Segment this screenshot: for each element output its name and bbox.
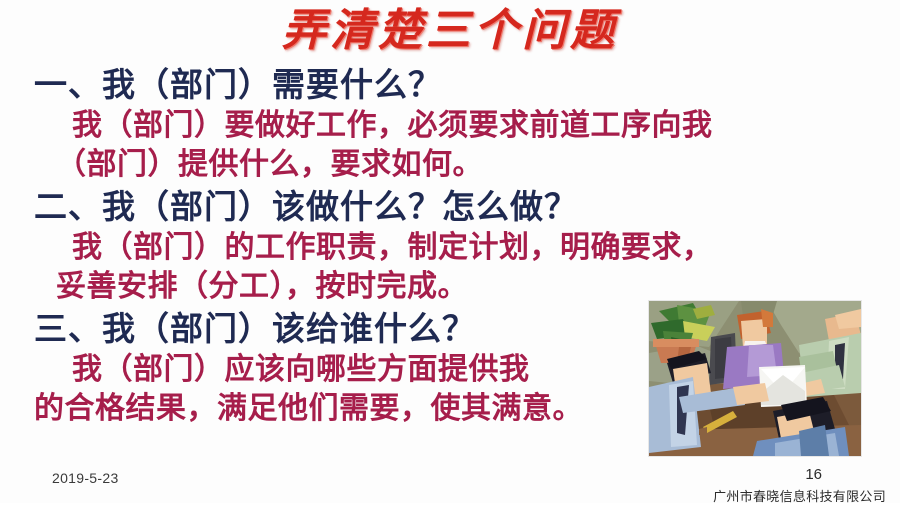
section-two: 二、我（部门）该做什么？怎么做？ 我（部门）的工作职责，制定计划，明确要求， 妥… [34, 188, 874, 306]
section-one-paragraph: 我（部门）要做好工作，必须要求前道工序向我 （部门）提供什么，要求如何。 [34, 107, 874, 184]
bottom-strip [0, 503, 900, 509]
page-title: 弄清楚三个问题 [0, 6, 900, 57]
section-two-heading: 二、我（部门）该做什么？怎么做？ [34, 188, 874, 228]
section-two-line-1: 我（部门）的工作职责，制定计划，明确要求， [34, 229, 874, 267]
section-one-line-1: 我（部门）要做好工作，必须要求前道工序向我 [34, 107, 874, 145]
footer-date: 2019-5-23 [52, 470, 119, 486]
section-one-line-2: （部门）提供什么，要求如何。 [34, 146, 874, 184]
slide-canvas: 弄清楚三个问题 一、我（部门）需要什么？ 我（部门）要做好工作，必须要求前道工序… [0, 0, 900, 509]
page-number: 16 [805, 466, 822, 483]
section-one: 一、我（部门）需要什么？ 我（部门）要做好工作，必须要求前道工序向我 （部门）提… [34, 66, 874, 184]
section-one-heading: 一、我（部门）需要什么？ [34, 66, 874, 106]
business-meeting-illustration-svg [649, 301, 861, 456]
business-meeting-illustration [648, 300, 862, 457]
section-two-paragraph: 我（部门）的工作职责，制定计划，明确要求， 妥善安排（分工），按时完成。 [34, 229, 874, 306]
